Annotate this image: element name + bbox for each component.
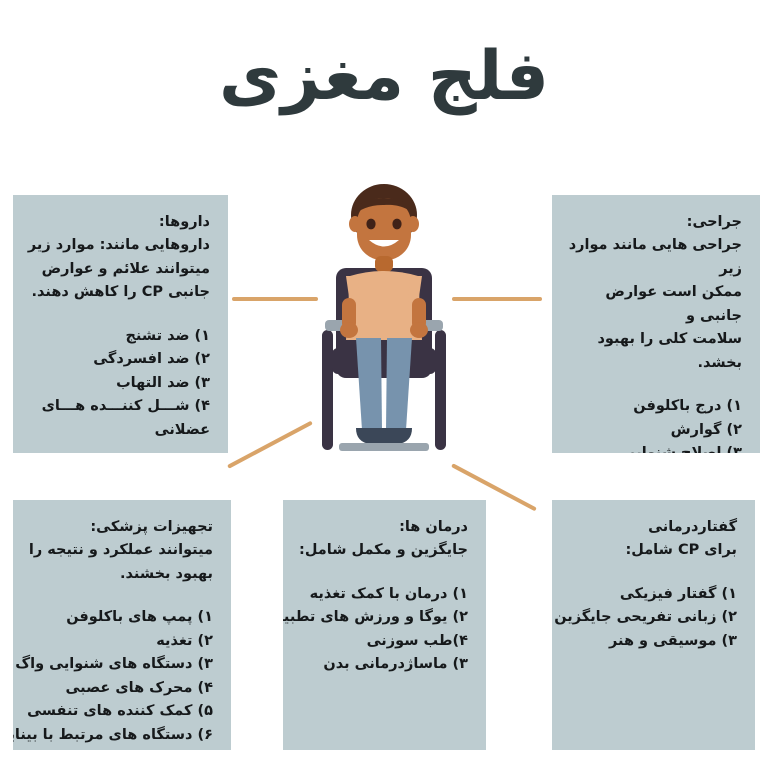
list-item: ۴)طب سوزنی xyxy=(297,630,468,653)
list-item: ۳) ماساژدرمانی بدن xyxy=(297,653,468,676)
right-eye xyxy=(392,219,401,230)
left-leg xyxy=(356,338,382,430)
neck xyxy=(375,256,393,272)
medications-spacer xyxy=(27,305,210,325)
wheelchair-seat xyxy=(332,348,436,374)
surgery-intro-line-1: جراحی هایی مانند موارد زیر xyxy=(566,234,742,281)
list-item: عضلانی xyxy=(27,419,210,442)
list-item: ۶) دستگاه های مرتبط با بینایی xyxy=(27,724,213,747)
box-therapies: درمان ها: جایگزین و مکمل شامل: ۱) درمان … xyxy=(283,500,486,750)
speech-heading: گفتاردرمانی xyxy=(566,516,737,539)
left-shoe xyxy=(356,428,384,444)
surgery-heading: جراحی: xyxy=(566,211,742,234)
list-item: ۳) اصلاح شنوایی xyxy=(566,442,742,453)
equipment-spacer xyxy=(27,586,213,606)
left-eye xyxy=(366,219,375,230)
list-item: ۳) ضد التهاب xyxy=(27,372,210,395)
list-item: ۱) درمان با کمک تغذیه xyxy=(297,583,468,606)
wheelchair-left-rail xyxy=(322,330,333,450)
medications-intro-line-1: داروهایی مانند: موارد زیر xyxy=(27,234,210,257)
list-item: ۲) یوگا و ورزش های تطبیقی xyxy=(297,606,468,629)
list-item: ۱) گفتار فیزیکی xyxy=(566,583,737,606)
list-item: ۳) دستگاه های شنوایی واگ xyxy=(27,653,213,676)
box-speech-therapy: گفتاردرمانی برای CP شامل: ۱) گفتار فیزیک… xyxy=(552,500,755,750)
therapies-heading: درمان ها: xyxy=(297,516,468,539)
surgery-intro-line-2: ممکن است عوارض جانبی و xyxy=(566,281,742,328)
equipment-intro-line-2: بهبود بخشند. xyxy=(27,563,213,586)
list-item: ۴) محرک های عصبی xyxy=(27,677,213,700)
speech-list: ۱) گفتار فیزیکی ۲) زبانی تفریحی جایگزین … xyxy=(566,583,737,653)
list-item: ۱) درج باکلوفن xyxy=(566,395,742,418)
speech-intro-line-1: برای CP شامل: xyxy=(566,539,737,562)
list-item: ۴) شـــل کننـــده هـــای xyxy=(27,395,210,418)
equipment-intro-line-1: میتوانند عملکرد و نتیجه را xyxy=(27,539,213,562)
medications-list: ۱) ضد تشنج ۲) ضد افسردگی ۳) ضد التهاب ۴)… xyxy=(27,325,210,442)
list-item: ۲) ضد افسردگی xyxy=(27,348,210,371)
right-leg xyxy=(386,338,412,430)
list-item: ۳) موسیقی و هنر xyxy=(566,630,737,653)
medications-heading: داروها: xyxy=(27,211,210,234)
medications-intro-line-3: جانبی CP را کاهش دهند. xyxy=(27,281,210,304)
therapies-list: ۱) درمان با کمک تغذیه ۲) یوگا و ورزش های… xyxy=(297,583,468,677)
box-medical-equipment: تجهیزات پزشکی: میتوانند عملکرد و نتیجه ر… xyxy=(13,500,231,750)
wheelchair-footrest xyxy=(339,443,429,451)
surgery-intro-line-3: سلامت کلی را بهبود بخشد. xyxy=(566,328,742,375)
speech-spacer xyxy=(566,563,737,583)
medications-intro-line-2: میتوانند علائم و عوارض xyxy=(27,258,210,281)
right-hand xyxy=(410,322,428,338)
left-hand xyxy=(340,322,358,338)
box-surgery: جراحی: جراحی هایی مانند موارد زیر ممکن ا… xyxy=(552,195,760,453)
surgery-spacer xyxy=(566,375,742,395)
equipment-list: ۱) پمپ های باکلوفن ۲) تغذیه ۳) دستگاه ها… xyxy=(27,606,213,747)
list-item: ۲) زبانی تفریحی جایگزین بازی xyxy=(566,606,737,629)
list-item: ۲) گوارش xyxy=(566,419,742,442)
right-shoe xyxy=(384,428,412,444)
therapies-intro-line-1: جایگزین و مکمل شامل: xyxy=(297,539,468,562)
surgery-list: ۱) درج باکلوفن ۲) گوارش ۳) اصلاح شنوایی … xyxy=(566,395,742,453)
infographic-page: فلج مغزی xyxy=(0,0,768,768)
list-item: ۱) ضد تشنج xyxy=(27,325,210,348)
page-title: فلج مغزی xyxy=(0,38,768,116)
box-medications: داروها: داروهایی مانند: موارد زیر میتوان… xyxy=(13,195,228,453)
list-item: ۲) تغذیه xyxy=(27,630,213,653)
equipment-heading: تجهیزات پزشکی: xyxy=(27,516,213,539)
therapies-spacer xyxy=(297,563,468,583)
list-item: ۱) پمپ های باکلوفن xyxy=(27,606,213,629)
list-item: ۵) کمک کننده های تنفسی xyxy=(27,700,213,723)
wheelchair-right-rail xyxy=(435,330,446,450)
boy-in-wheelchair-illustration xyxy=(284,180,484,480)
